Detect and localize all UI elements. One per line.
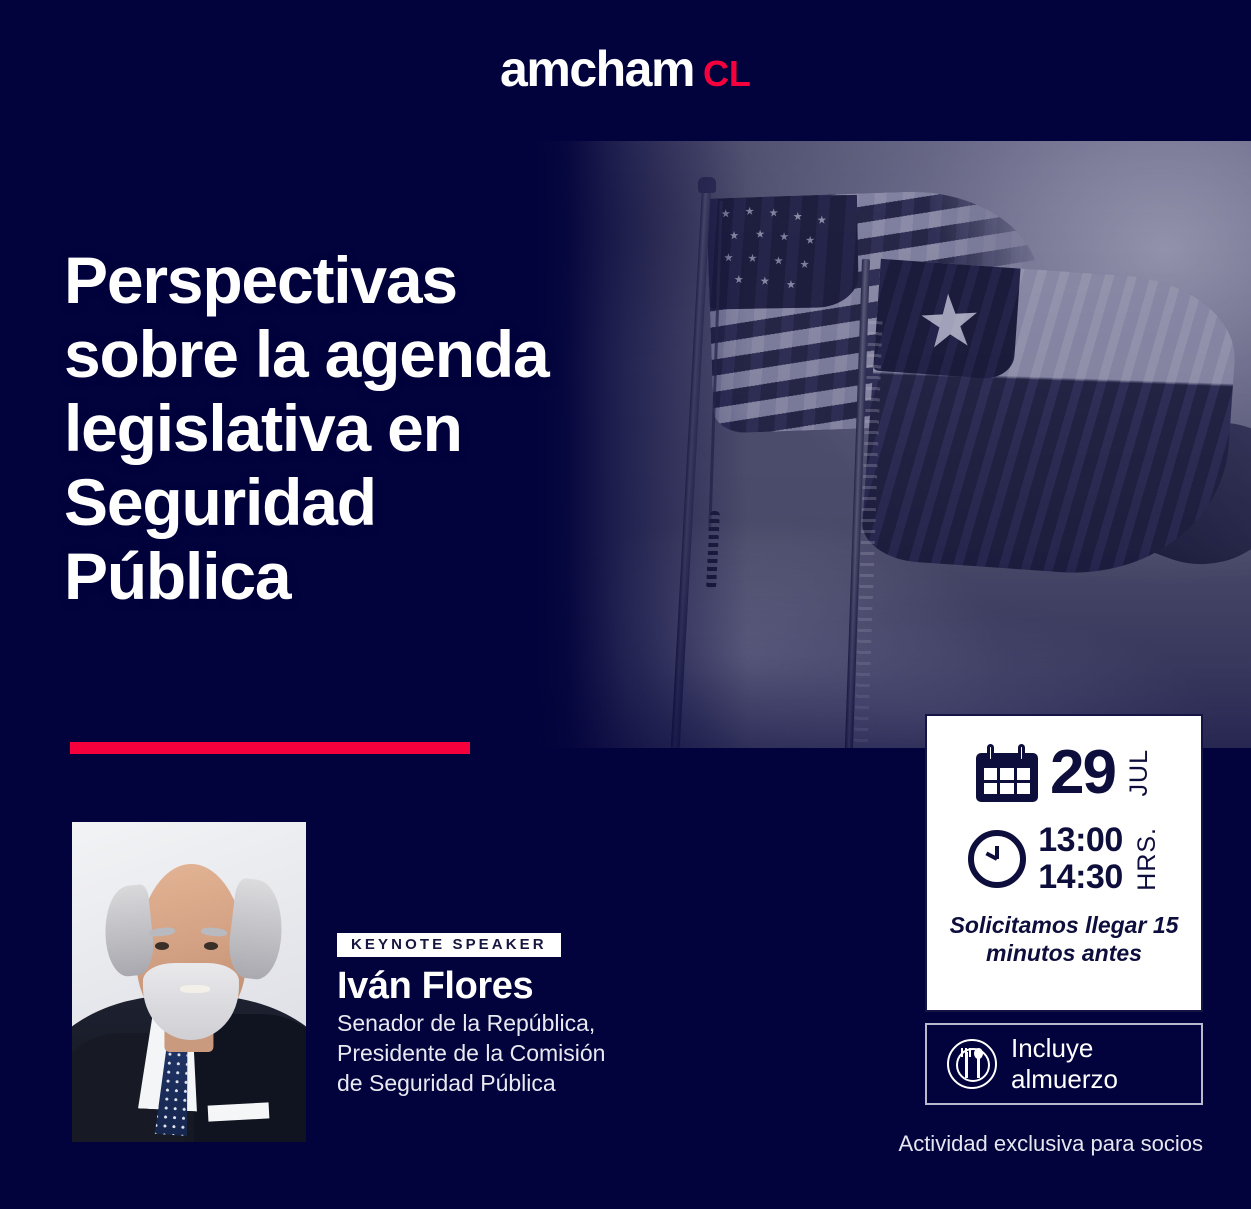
event-info-card: 29 JUL 13:00 14:30 HRS. Solicitamos lleg… (925, 714, 1203, 1012)
speaker-portrait (72, 822, 306, 1142)
calendar-icon (976, 744, 1038, 802)
page-title: Perspectivas sobre la agenda legislativa… (64, 244, 704, 614)
event-time-unit: HRS. (1135, 827, 1160, 891)
event-day: 29 (1050, 745, 1115, 801)
event-time-start: 13:00 (1038, 822, 1122, 859)
lunch-label: Incluye almuerzo (1011, 1033, 1201, 1095)
amcham-logo: amchamCL (0, 44, 1251, 94)
arrival-note: Solicitamos llegar 15 minutos antes (937, 912, 1191, 966)
status-badge: KEYNOTE SPEAKER (337, 933, 561, 957)
portrait-eye-right (204, 942, 218, 950)
portrait-mouth (180, 985, 210, 993)
portrait-pocket-square (207, 1102, 269, 1121)
time-row: 13:00 14:30 HRS. (937, 822, 1191, 895)
event-times: 13:00 14:30 (1038, 822, 1122, 895)
event-month: JUL (1127, 749, 1152, 796)
logo-wordmark: amcham (500, 41, 694, 97)
event-poster: amchamCL Perspectivas sobre la agenda le… (0, 0, 1251, 1209)
members-only-note: Actividad exclusiva para socios (0, 1131, 1203, 1157)
speaker-name: Iván Flores (337, 965, 533, 1008)
accent-divider (70, 742, 470, 754)
portrait-eye-left (155, 942, 169, 950)
lunch-included-box: Incluye almuerzo (925, 1023, 1203, 1105)
clock-icon (968, 830, 1026, 888)
date-row: 29 JUL (937, 744, 1191, 802)
speaker-role: Senador de la República, Presidente de l… (337, 1009, 605, 1099)
plate-cutlery-icon (947, 1039, 997, 1089)
logo-country-suffix: CL (703, 53, 751, 94)
event-time-end: 14:30 (1038, 859, 1122, 896)
